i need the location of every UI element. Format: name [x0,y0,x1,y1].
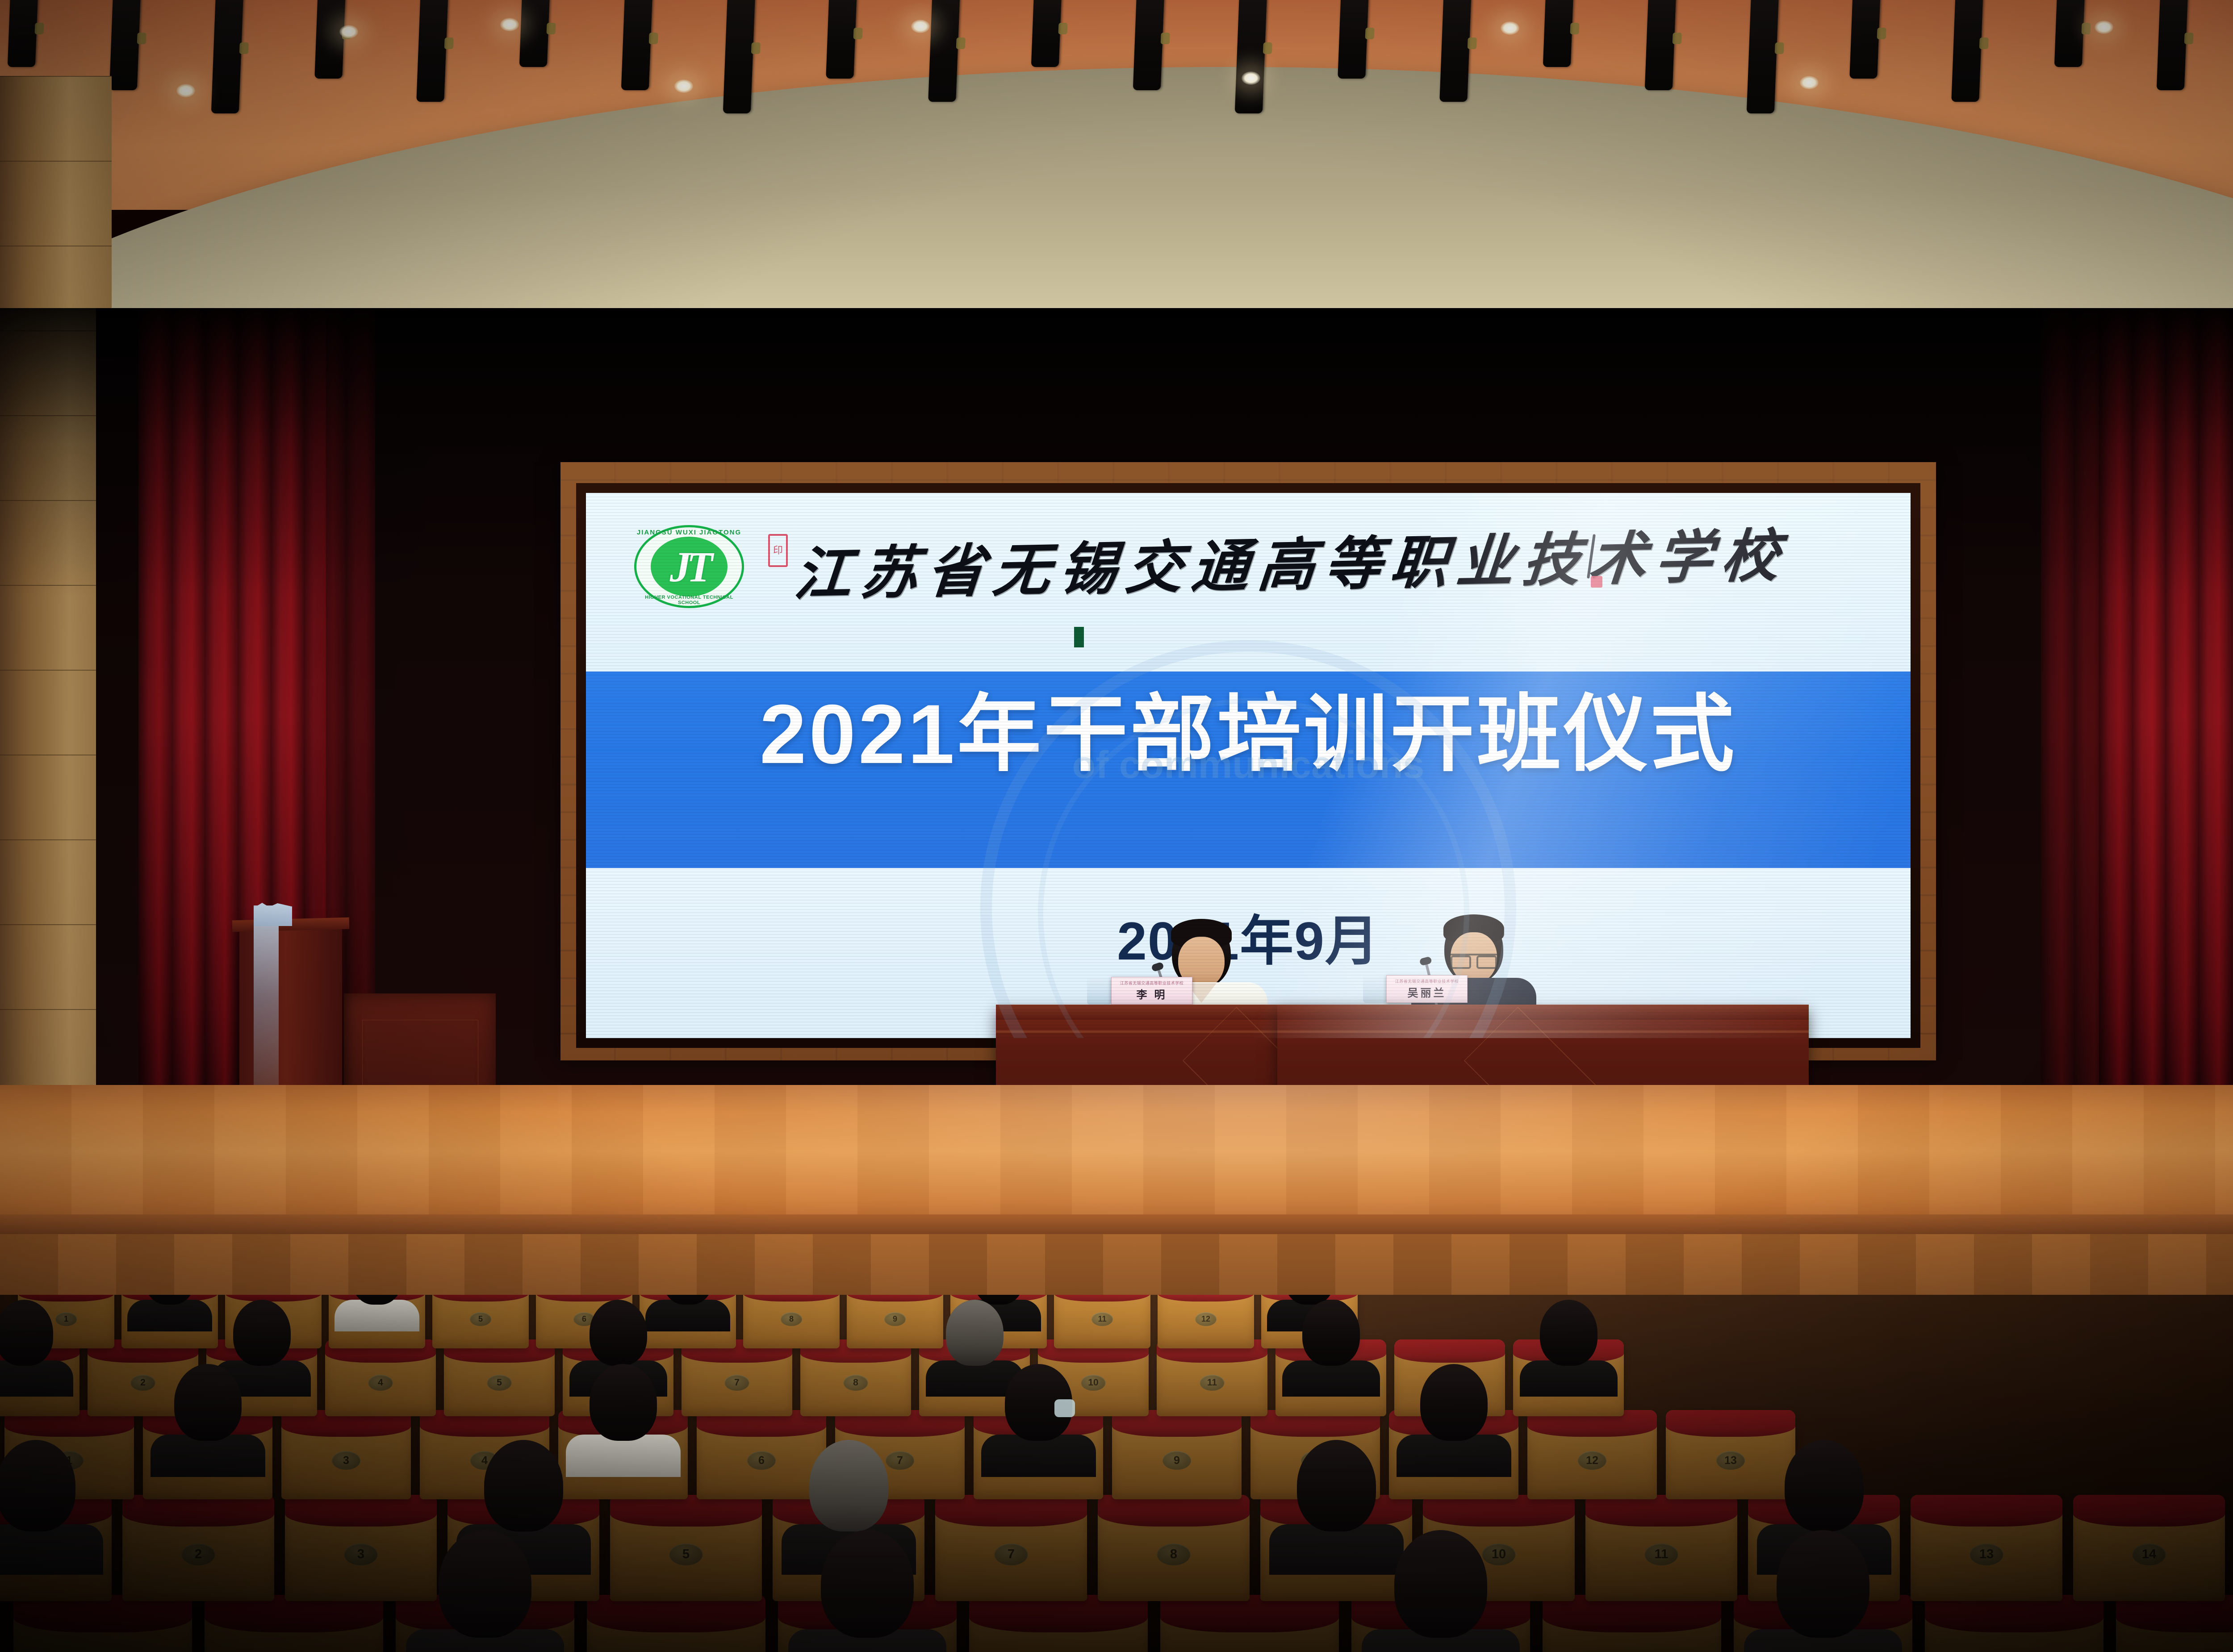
audience-member-shoulders [645,1300,730,1331]
seat-number-plate: 11 [1645,1544,1678,1565]
seat-number-plate: 10 [1482,1544,1516,1565]
seat-velvet-top [1423,1495,1575,1527]
hanging-stage-light [723,0,756,113]
audience-member-head [1777,1530,1869,1638]
hanging-stage-light [1440,0,1472,102]
audience-seat[interactable]: 5 [432,1295,529,1348]
slide-green-marker [1074,627,1084,647]
nameplate-left: 江苏省无锡交通高等职业技术学校 李 明 [1111,977,1192,1005]
seat-velvet-top [1054,1295,1150,1302]
audience-member-head [946,1300,1004,1366]
wall-plank-seam [0,161,112,162]
audience-member-shoulders [1520,1360,1618,1397]
audience-member-head [590,1364,657,1441]
audience-member-shoulders [127,1300,212,1331]
hanging-stage-light [826,0,857,79]
audience-member-head [1297,1440,1376,1531]
seat-number-plate: 11 [1091,1312,1113,1326]
seat-number-plate: 7 [725,1375,749,1391]
seat-velvet-top [1666,1410,1795,1437]
audience-member-head [590,1300,647,1366]
audience-seat[interactable]: 5 [610,1495,762,1601]
hanging-stage-light [1235,0,1267,113]
hanging-stage-light [211,0,244,113]
seat-number-plate: 8 [1157,1544,1191,1565]
audience-seat[interactable]: 1 [13,1595,192,1652]
hanging-stage-light [1644,0,1676,90]
audience-seat[interactable]: 8 [743,1295,840,1348]
wall-plank-seam [0,76,112,77]
seat-velvet-top [285,1495,437,1527]
nameplate-left-header: 江苏省无锡交通高等职业技术学校 [1120,980,1184,986]
ceiling-downlight [500,18,519,31]
seat-velvet-top [935,1495,1087,1527]
logo-arc-bottom-text: HIGHER VOCATIONAL TECHNICAL SCHOOL [634,595,744,605]
wall-plank-seam [0,246,112,246]
seat-number-plate: 5 [470,1312,491,1326]
ceiling-downlight [674,79,693,93]
audience-seat[interactable]: 11 [1054,1295,1150,1348]
glasses-icon [1451,954,1497,964]
audience-member-head [1394,1530,1487,1638]
stage-front-edge [0,1214,2233,1234]
seat-number-plate: 8 [781,1312,802,1326]
audience-seat[interactable]: 4 [325,1339,436,1416]
audience-seat[interactable]: 7 [682,1339,792,1416]
wall-plank-seam [0,585,112,586]
hanging-stage-light [2156,0,2188,90]
audience-member-head [1540,1300,1597,1366]
audience-seat[interactable]: 11 [1585,1495,1737,1601]
red-seal-icon: 印 [768,534,788,567]
hanging-stage-light [1338,0,1369,79]
seat-velvet-top [1585,1495,1737,1527]
seat-number-plate: 13 [1716,1451,1745,1470]
audience-member-shoulders [0,1524,103,1575]
audience-seat[interactable]: 13 [1911,1495,2062,1601]
auditorium-photo: JIANGSU WUXI JIAOTONG JT HIGHER VOCATION… [0,0,2233,1652]
seat-number-plate: 11 [1200,1375,1225,1391]
seat-number-plate: 8 [844,1375,868,1391]
seat-number-plate: 7 [886,1451,914,1470]
seat-velvet-top [1394,1339,1505,1363]
school-name-calligraphy: 江苏省无锡交通高等职业技术学校 [791,509,1792,611]
hanging-stage-light [621,0,653,90]
audience-seat[interactable]: 5 [444,1339,555,1416]
nameplate-right-name: 吴丽兰 [1408,984,1447,1000]
hanging-stage-light [1951,0,1983,102]
water-cup-left [1087,978,1111,1005]
audience-seat-row: 1234567891011121314 [0,1495,2233,1601]
seat-number-plate: 3 [332,1451,360,1470]
audience-member-head [1420,1364,1488,1441]
seat-number-plate: 5 [669,1544,703,1565]
ceiling-downlight [1242,71,1260,85]
seat-velvet-top [847,1295,943,1302]
lectern-acrylic-top [254,903,292,926]
audience-seat[interactable]: 2 [122,1495,274,1601]
seat-number-plate: 14 [2133,1544,2166,1565]
nameplate-right-header: 江苏省无锡交通高等职业技术学校 [1395,978,1459,984]
water-cup-right [1363,976,1387,1003]
wall-plank-seam [0,415,112,416]
seat-number-plate: 12 [1578,1451,1606,1470]
slide-title: 2021年干部培训开班仪式 [760,692,1737,776]
hanging-stage-light [2054,0,2085,67]
wall-plank-seam [0,839,112,840]
audience-member-head [0,1300,53,1366]
ceiling-downlight [176,84,195,97]
audience-member-shoulders [0,1360,73,1397]
nameplate-left-name: 李 明 [1137,986,1167,1001]
audience-member-head [809,1440,888,1531]
audience-member-shoulders [1269,1524,1404,1575]
stage-curtain-right [2099,308,2233,1156]
calligraphy-signature-seal-icon [1591,576,1602,588]
audience-seat[interactable]: 6 [969,1595,1148,1652]
audience-seat[interactable]: 9 [1112,1410,1242,1499]
audience-seat[interactable]: 8 [800,1339,911,1416]
audience-member-head [0,1440,75,1531]
lectern-acrylic-panel [254,905,279,1111]
seat-number-plate: 9 [1162,1451,1191,1470]
seat-number-plate: 1 [55,1312,77,1326]
hanging-stage-light [1543,0,1573,67]
audience-seat[interactable]: 7 [1160,1595,1339,1652]
hanging-stage-light [1031,0,1062,67]
audience-seat[interactable]: 12 [2116,1595,2233,1652]
nameplate-right: 江苏省无锡交通高等职业技术学校 吴丽兰 [1386,975,1468,1003]
audience-seat[interactable]: 11 [1925,1595,2103,1652]
audience-member-head [1005,1364,1072,1441]
hanging-stage-light [109,0,141,90]
seat-number-plate: 2 [131,1375,155,1391]
wall-plank-seam [0,330,112,331]
seat-number-plate: 3 [344,1544,378,1565]
audience-member-head [484,1440,563,1531]
seat-velvet-top [18,1295,114,1302]
seat-number-plate: 2 [182,1544,215,1565]
audience-seat[interactable]: 8 [1098,1495,1250,1601]
seat-velvet-top [225,1295,322,1302]
ceiling-downlight [2095,21,2113,34]
seat-velvet-top [1158,1295,1254,1302]
audience-member-head [233,1300,291,1366]
ceiling-downlight [1800,76,1819,89]
seat-number-plate: 12 [1195,1312,1217,1326]
school-logo-icon: JIANGSU WUXI JIAOTONG JT HIGHER VOCATION… [634,525,744,608]
hanging-stage-light [8,0,38,67]
stage-curtain-right-inner [2041,308,2108,1156]
seat-velvet-top [2073,1495,2225,1527]
audience-seat[interactable]: 14 [2073,1495,2225,1601]
seat-velvet-top [1098,1495,1250,1527]
slide-title-band: 2021年干部培训开班仪式 [586,672,1911,868]
hanging-stage-light [928,0,960,102]
ceiling-downlight [1501,21,1519,35]
audience-seat[interactable]: 11 [1157,1339,1267,1416]
wall-plank-seam [0,924,112,925]
audience-member-shoulders [566,1435,681,1477]
hanging-stage-light [1133,0,1165,90]
led-screen[interactable]: JIANGSU WUXI JIAOTONG JT HIGHER VOCATION… [586,493,1911,1038]
slide-header-band: JIANGSU WUXI JIAOTONG JT HIGHER VOCATION… [586,493,1911,672]
audience-member-shoulders [335,1300,419,1331]
audience-seat[interactable]: 12 [1158,1295,1254,1348]
audience-seat[interactable]: 2 [205,1595,383,1652]
audience-member-head [1785,1440,1864,1531]
seat-number-plate: 10 [1081,1375,1106,1391]
seat-velvet-top [1911,1495,2062,1527]
seat-number-plate: 5 [487,1375,512,1391]
audience-seat[interactable]: 9 [847,1295,943,1348]
audience-seat[interactable]: 13 [1666,1410,1795,1499]
audience-seat-row: 12345678910111213 [4,1410,1804,1499]
wall-plank-seam [0,670,112,671]
audience-member-shoulders [1282,1360,1380,1397]
audience-member-shoulders [151,1435,265,1477]
seat-velvet-top [743,1295,840,1302]
seat-velvet-top [610,1495,762,1527]
wall-plank-seam [0,755,112,755]
seat-number-plate: 9 [884,1312,906,1326]
seat-velvet-top [432,1295,529,1302]
hanging-stage-light [314,0,346,79]
wall-panel-left [0,76,112,1183]
audience-seating: 1234567891011121234567891011121314123456… [0,1295,2233,1652]
seat-velvet-top [122,1495,274,1527]
seat-number-plate: 7 [995,1544,1028,1565]
hanging-stage-light [416,0,448,102]
audience-seat[interactable]: 4 [587,1595,765,1652]
seat-number-plate: 13 [1970,1544,2003,1565]
seat-number-plate: 6 [747,1451,776,1470]
stage-floor-reflection [558,1085,1943,1232]
audience-seat[interactable]: 7 [935,1495,1087,1601]
audience-seat[interactable]: 6 [697,1410,826,1499]
audience-member-shoulders [1397,1435,1511,1477]
hanging-stage-light [519,0,550,67]
wall-plank-seam [0,500,112,501]
hanging-stage-light [1747,0,1779,113]
ceiling-downlight [911,20,930,33]
audience-member-shoulders [981,1435,1096,1477]
hanging-stage-light [1849,0,1881,79]
audience-seat[interactable]: 3 [281,1410,411,1499]
stage-light-rig [0,0,2233,161]
audience-member-head [174,1364,242,1441]
audience-member-head [439,1530,531,1638]
audience-member-head [1302,1300,1360,1366]
audience-member-head [821,1530,914,1638]
audience-seat[interactable]: 3 [285,1495,437,1601]
ceiling-downlight [339,25,358,38]
audience-seat[interactable]: 9 [1543,1595,1721,1652]
seat-number-plate: 4 [368,1375,393,1391]
wall-plank-seam [0,1009,112,1010]
audience-seat[interactable]: 12 [1527,1410,1657,1499]
